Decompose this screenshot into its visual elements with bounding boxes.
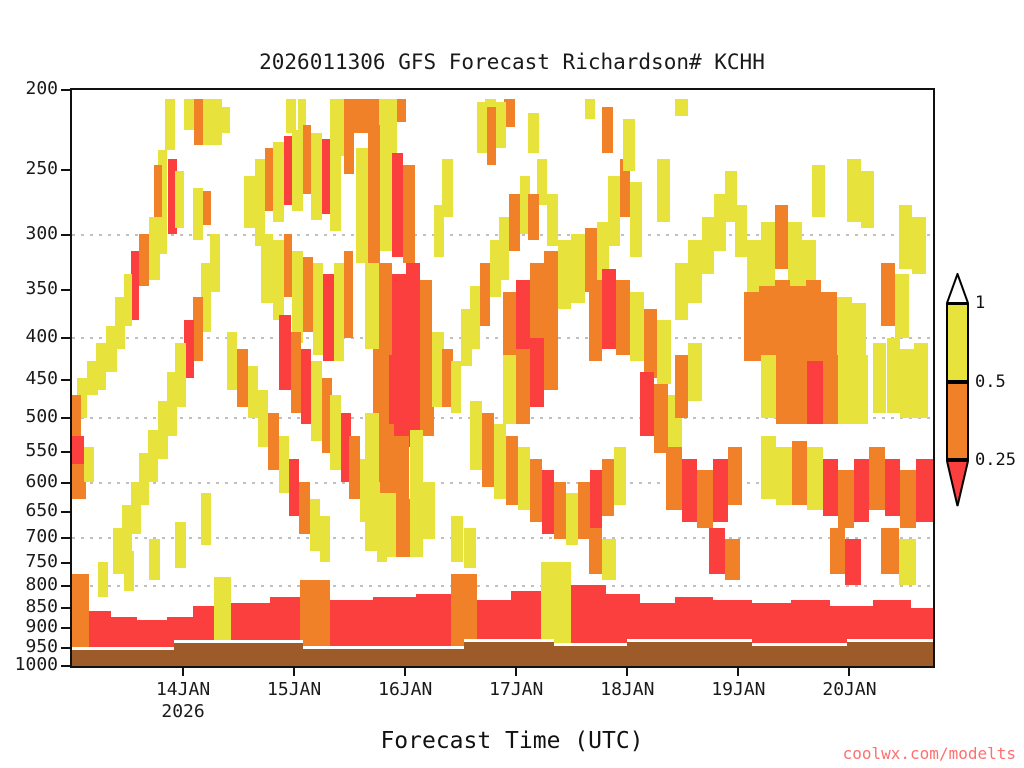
heatmap-cell bbox=[854, 459, 869, 522]
heatmap-cell bbox=[566, 493, 578, 545]
heatmap-cell bbox=[899, 205, 913, 268]
heatmap-cell bbox=[589, 280, 603, 361]
heatmap-cell bbox=[310, 499, 320, 551]
heatmap-cell bbox=[503, 292, 517, 361]
y-tick-mark bbox=[61, 482, 70, 484]
heatmap-cell bbox=[106, 326, 116, 372]
colorbar-tick-label: 1 bbox=[975, 293, 985, 313]
heatmap-cell bbox=[585, 99, 595, 119]
heatmap-cell bbox=[397, 99, 406, 122]
x-tick-mark bbox=[182, 668, 184, 676]
heatmap-cell bbox=[744, 292, 759, 361]
x-tick-label: 14JAN bbox=[156, 679, 210, 700]
heatmap-cell bbox=[602, 539, 616, 579]
y-tick-label: 1000 bbox=[15, 655, 58, 675]
x-axis: 14JAN202615JAN16JAN17JAN18JAN19JAN20JAN bbox=[70, 668, 935, 728]
y-tick-label: 700 bbox=[25, 527, 58, 547]
heatmap-cell bbox=[344, 251, 353, 337]
heatmap-cell bbox=[873, 343, 887, 412]
heatmap-cell bbox=[451, 516, 463, 562]
heatmap-cell bbox=[506, 436, 518, 505]
y-tick-mark bbox=[61, 627, 70, 629]
colorbar-tick-label: 0.25 bbox=[975, 450, 1016, 470]
y-tick-mark bbox=[61, 585, 70, 587]
heatmap-cell bbox=[614, 447, 626, 505]
heatmap-cell bbox=[255, 159, 265, 245]
heatmap-cell bbox=[273, 142, 283, 223]
y-tick-label: 450 bbox=[25, 369, 58, 389]
y-tick-mark bbox=[61, 665, 70, 667]
heatmap-cell bbox=[451, 361, 461, 413]
heatmap-cell bbox=[881, 263, 895, 326]
heatmap-cell bbox=[725, 539, 740, 579]
heatmap-cell bbox=[630, 292, 644, 361]
heatmap-cell bbox=[775, 280, 790, 361]
x-tick-mark bbox=[404, 668, 406, 676]
heatmap-cell bbox=[528, 194, 538, 240]
x-tick-mark bbox=[848, 668, 850, 676]
heatmap-cell bbox=[203, 99, 222, 145]
heatmap-cell bbox=[837, 297, 852, 366]
heatmap-cell bbox=[258, 390, 268, 448]
y-tick-label: 850 bbox=[25, 597, 58, 617]
y-tick-label: 250 bbox=[25, 159, 58, 179]
heatmap-cell bbox=[775, 205, 789, 268]
x-tick-mark bbox=[515, 668, 517, 676]
heatmap-cell bbox=[812, 165, 824, 217]
heatmap-cell bbox=[838, 361, 853, 424]
heatmap-cell bbox=[830, 528, 845, 574]
heatmap-cell bbox=[881, 528, 898, 574]
heatmap-cell bbox=[761, 222, 775, 285]
heatmap-cell bbox=[885, 459, 900, 517]
heatmap-cell bbox=[261, 234, 273, 303]
chart-root: 2026011306 GFS Forecast Richardson# KCHH… bbox=[0, 0, 1024, 768]
y-tick-mark bbox=[61, 337, 70, 339]
heatmap-cell bbox=[237, 349, 247, 407]
heatmap-cell bbox=[330, 395, 340, 470]
heatmap-cell bbox=[544, 320, 558, 389]
heatmap-cell bbox=[365, 263, 379, 349]
heatmap-cell bbox=[320, 516, 330, 562]
heatmap-cell bbox=[916, 459, 933, 522]
heatmap-cell bbox=[222, 107, 231, 133]
heatmap-cell bbox=[807, 447, 822, 510]
heatmap-cell bbox=[788, 222, 802, 291]
heatmap-cell bbox=[334, 263, 344, 361]
heatmap-cell bbox=[87, 361, 97, 396]
heatmap-cell bbox=[193, 188, 203, 240]
heatmap-cell bbox=[313, 263, 323, 355]
heatmap-cell bbox=[470, 286, 480, 349]
chart-title: 2026011306 GFS Forecast Richardson# KCHH bbox=[0, 50, 1024, 74]
heatmap-cell bbox=[530, 263, 544, 344]
terrain-segment bbox=[752, 646, 847, 666]
heatmap-cell bbox=[640, 372, 654, 435]
heatmap-cell bbox=[616, 280, 630, 355]
x-tick-sublabel: 2026 bbox=[161, 701, 204, 722]
heatmap-cell bbox=[590, 470, 602, 528]
heatmap-cell bbox=[530, 459, 542, 522]
y-tick-label: 200 bbox=[25, 79, 58, 99]
heatmap-cell bbox=[301, 349, 311, 424]
heatmap-cell bbox=[286, 99, 296, 134]
heatmap-cell bbox=[227, 332, 237, 390]
heatmap-cell bbox=[847, 159, 861, 222]
heatmap-cell bbox=[761, 355, 776, 418]
heatmap-cell bbox=[554, 482, 566, 540]
heatmap-cell bbox=[887, 338, 901, 413]
heatmap-cell bbox=[303, 257, 313, 332]
heatmap-cell bbox=[657, 320, 671, 383]
heatmap-cell bbox=[113, 528, 123, 574]
y-axis: 2002503003504004505005506006507007508008… bbox=[0, 88, 70, 668]
heatmap-cell bbox=[410, 493, 424, 556]
heatmap-cell bbox=[761, 436, 776, 499]
colorbar-band bbox=[946, 382, 969, 461]
heatmap-cell bbox=[356, 148, 368, 263]
y-tick-mark bbox=[61, 169, 70, 171]
terrain-segment bbox=[303, 649, 464, 666]
heatmap-cell bbox=[688, 240, 702, 303]
heatmap-cell bbox=[392, 153, 402, 257]
heatmap-cell bbox=[735, 205, 747, 257]
heatmap-cell bbox=[503, 355, 517, 424]
heatmap-cell bbox=[380, 136, 392, 251]
heatmap-cell bbox=[365, 413, 379, 488]
heatmap-cell bbox=[558, 240, 572, 309]
y-tick-mark bbox=[61, 647, 70, 649]
y-tick-label: 500 bbox=[25, 407, 58, 427]
heatmap-cell bbox=[496, 102, 506, 148]
heatmap-cell bbox=[571, 234, 585, 303]
terrain-segment bbox=[627, 642, 752, 666]
y-tick-mark bbox=[61, 234, 70, 236]
heatmap-cell bbox=[776, 447, 791, 505]
heatmap-cell bbox=[365, 482, 380, 551]
heatmap-cell bbox=[149, 217, 159, 280]
heatmap-cell bbox=[602, 269, 616, 350]
heatmap-cell bbox=[368, 125, 380, 263]
heatmap-cell bbox=[516, 349, 530, 424]
heatmap-cell bbox=[344, 99, 354, 174]
heatmap-cell bbox=[509, 194, 519, 252]
heatmap-cell bbox=[434, 205, 444, 257]
heatmap-cell bbox=[279, 436, 289, 494]
heatmap-cell bbox=[248, 366, 258, 418]
heatmap-cell bbox=[630, 182, 642, 257]
y-tick-mark bbox=[61, 289, 70, 291]
heatmap-cell bbox=[530, 338, 544, 407]
y-tick-label: 300 bbox=[25, 224, 58, 244]
heatmap-cell bbox=[487, 107, 496, 165]
heatmap-cell bbox=[154, 165, 163, 217]
heatmap-cell bbox=[322, 139, 331, 214]
heatmap-cell bbox=[542, 470, 554, 533]
heatmap-cell bbox=[349, 436, 359, 499]
terrain-segment bbox=[72, 650, 174, 666]
colorbar-band bbox=[946, 303, 969, 382]
heatmap-cell bbox=[688, 343, 702, 401]
heatmap-cell bbox=[602, 107, 612, 153]
heatmap-cell bbox=[470, 401, 482, 470]
heatmap-cell bbox=[838, 470, 853, 528]
heatmap-cell bbox=[790, 286, 805, 361]
x-tick-label: 16JAN bbox=[378, 679, 432, 700]
heatmap-cell bbox=[682, 459, 697, 522]
colorbar-legend: 10.50.25 bbox=[946, 303, 969, 460]
heatmap-cell bbox=[149, 539, 159, 579]
heatmap-cell bbox=[291, 332, 301, 413]
heatmap-cell bbox=[299, 482, 309, 534]
heatmap-cell bbox=[194, 99, 203, 145]
heatmap-cell bbox=[244, 176, 254, 228]
plot-area bbox=[70, 88, 935, 668]
heatmap-cell bbox=[759, 286, 774, 361]
heatmap-cell bbox=[482, 413, 494, 488]
heatmap-cell bbox=[914, 343, 928, 418]
y-tick-label: 350 bbox=[25, 279, 58, 299]
heatmap-cell bbox=[657, 159, 669, 222]
heatmap-cell bbox=[175, 522, 185, 568]
heatmap-cell bbox=[268, 413, 278, 471]
y-tick-mark bbox=[61, 89, 70, 91]
heatmap-cell bbox=[420, 280, 432, 372]
x-tick-mark bbox=[737, 668, 739, 676]
x-tick-mark bbox=[293, 668, 295, 676]
watermark: coolwx.com/modelts bbox=[843, 744, 1016, 763]
y-tick-label: 800 bbox=[25, 575, 58, 595]
terrain-segment bbox=[847, 642, 933, 666]
heatmap-cell bbox=[823, 459, 838, 517]
heatmap-cell bbox=[292, 130, 302, 211]
heatmap-cell bbox=[494, 424, 506, 499]
y-tick-mark bbox=[61, 511, 70, 513]
heatmap-cell bbox=[823, 355, 838, 424]
heatmap-cell bbox=[861, 171, 875, 229]
heatmap-cell bbox=[675, 355, 689, 418]
heatmap-cell bbox=[900, 349, 914, 418]
heatmap-cell bbox=[912, 217, 926, 275]
heatmap-cell bbox=[845, 539, 860, 585]
heatmap-cell bbox=[675, 263, 689, 321]
heatmap-cell bbox=[499, 217, 509, 280]
y-tick-mark bbox=[61, 607, 70, 609]
heatmap-cell bbox=[410, 430, 424, 499]
y-tick-mark bbox=[61, 451, 70, 453]
heatmap-cell bbox=[323, 274, 333, 360]
y-tick-mark bbox=[61, 562, 70, 564]
heatmap-cell bbox=[589, 528, 603, 574]
heatmap-cell bbox=[528, 113, 538, 153]
heatmap-cell bbox=[728, 447, 742, 505]
y-tick-label: 400 bbox=[25, 327, 58, 347]
terrain-segment bbox=[174, 643, 303, 666]
heatmap-cell bbox=[98, 562, 108, 597]
heatmap-cell bbox=[792, 441, 807, 504]
heatmap-cell bbox=[403, 165, 415, 263]
heatmap-cell bbox=[547, 194, 557, 246]
x-tick-label: 18JAN bbox=[600, 679, 654, 700]
heatmap-cell bbox=[608, 176, 620, 245]
terrain-segment bbox=[464, 642, 554, 666]
heatmap-cell bbox=[292, 251, 302, 343]
heatmap-cell bbox=[895, 274, 909, 337]
heatmap-cell bbox=[709, 528, 724, 574]
y-tick-label: 600 bbox=[25, 472, 58, 492]
heatmap-cell bbox=[602, 459, 614, 517]
heatmap-cell bbox=[311, 361, 321, 442]
heatmap-cell bbox=[666, 447, 681, 510]
x-tick-label: 17JAN bbox=[489, 679, 543, 700]
heatmap-cell bbox=[869, 447, 884, 510]
y-tick-mark bbox=[61, 379, 70, 381]
heatmap-cell bbox=[201, 493, 211, 545]
heatmap-cell bbox=[203, 191, 212, 226]
heatmap-cell bbox=[806, 280, 821, 361]
heatmap-cell bbox=[311, 133, 321, 219]
heatmap-cell bbox=[518, 447, 530, 510]
heatmap-cell bbox=[423, 482, 435, 540]
y-tick-label: 650 bbox=[25, 501, 58, 521]
heatmap-cell bbox=[644, 309, 658, 378]
heatmap-cell bbox=[854, 355, 868, 424]
heatmap-cell bbox=[158, 401, 168, 459]
heatmap-cell bbox=[675, 99, 689, 116]
x-tick-label: 19JAN bbox=[711, 679, 765, 700]
colorbar-tick-label: 0.5 bbox=[975, 372, 1006, 392]
heatmap-cell bbox=[776, 361, 791, 424]
heatmap-cell bbox=[477, 102, 487, 154]
y-tick-mark bbox=[61, 417, 70, 419]
heatmap-cell bbox=[396, 499, 410, 557]
heatmap-cell bbox=[265, 148, 274, 211]
heatmap-cell bbox=[84, 447, 94, 482]
y-tick-mark bbox=[61, 537, 70, 539]
y-tick-label: 750 bbox=[25, 552, 58, 572]
heatmap-cell bbox=[713, 459, 728, 522]
heatmap-cell bbox=[284, 136, 293, 205]
x-tick-label: 20JAN bbox=[822, 679, 876, 700]
heatmap-cell bbox=[279, 315, 291, 390]
heatmap-cell bbox=[792, 355, 807, 424]
x-tick-label: 15JAN bbox=[267, 679, 321, 700]
heatmap-cell bbox=[380, 493, 395, 556]
heatmap-cell bbox=[697, 470, 712, 528]
heatmap-cell bbox=[139, 234, 149, 286]
y-tick-label: 900 bbox=[25, 617, 58, 637]
heatmap-cell bbox=[623, 119, 635, 171]
heatmap-cell bbox=[165, 99, 175, 151]
terrain-segment bbox=[554, 646, 627, 666]
heatmap-cell bbox=[900, 470, 915, 528]
heatmap-cell bbox=[702, 217, 714, 275]
heatmap-cell bbox=[899, 539, 916, 585]
heatmap-cells bbox=[72, 90, 933, 666]
heatmap-cell bbox=[184, 99, 194, 131]
heatmap-cell bbox=[330, 145, 340, 231]
heatmap-cell bbox=[544, 251, 558, 326]
heatmap-cell bbox=[124, 551, 134, 591]
y-tick-label: 550 bbox=[25, 441, 58, 461]
x-tick-mark bbox=[626, 668, 628, 676]
heatmap-cell bbox=[284, 234, 293, 297]
heatmap-cell bbox=[273, 240, 283, 321]
heatmap-cell bbox=[175, 171, 184, 229]
heatmap-cell bbox=[289, 459, 299, 517]
heatmap-cell bbox=[303, 125, 312, 194]
heatmap-cell bbox=[480, 263, 490, 326]
heatmap-cell bbox=[464, 528, 476, 568]
heatmap-cell bbox=[654, 384, 668, 453]
heatmap-cell bbox=[807, 361, 822, 424]
